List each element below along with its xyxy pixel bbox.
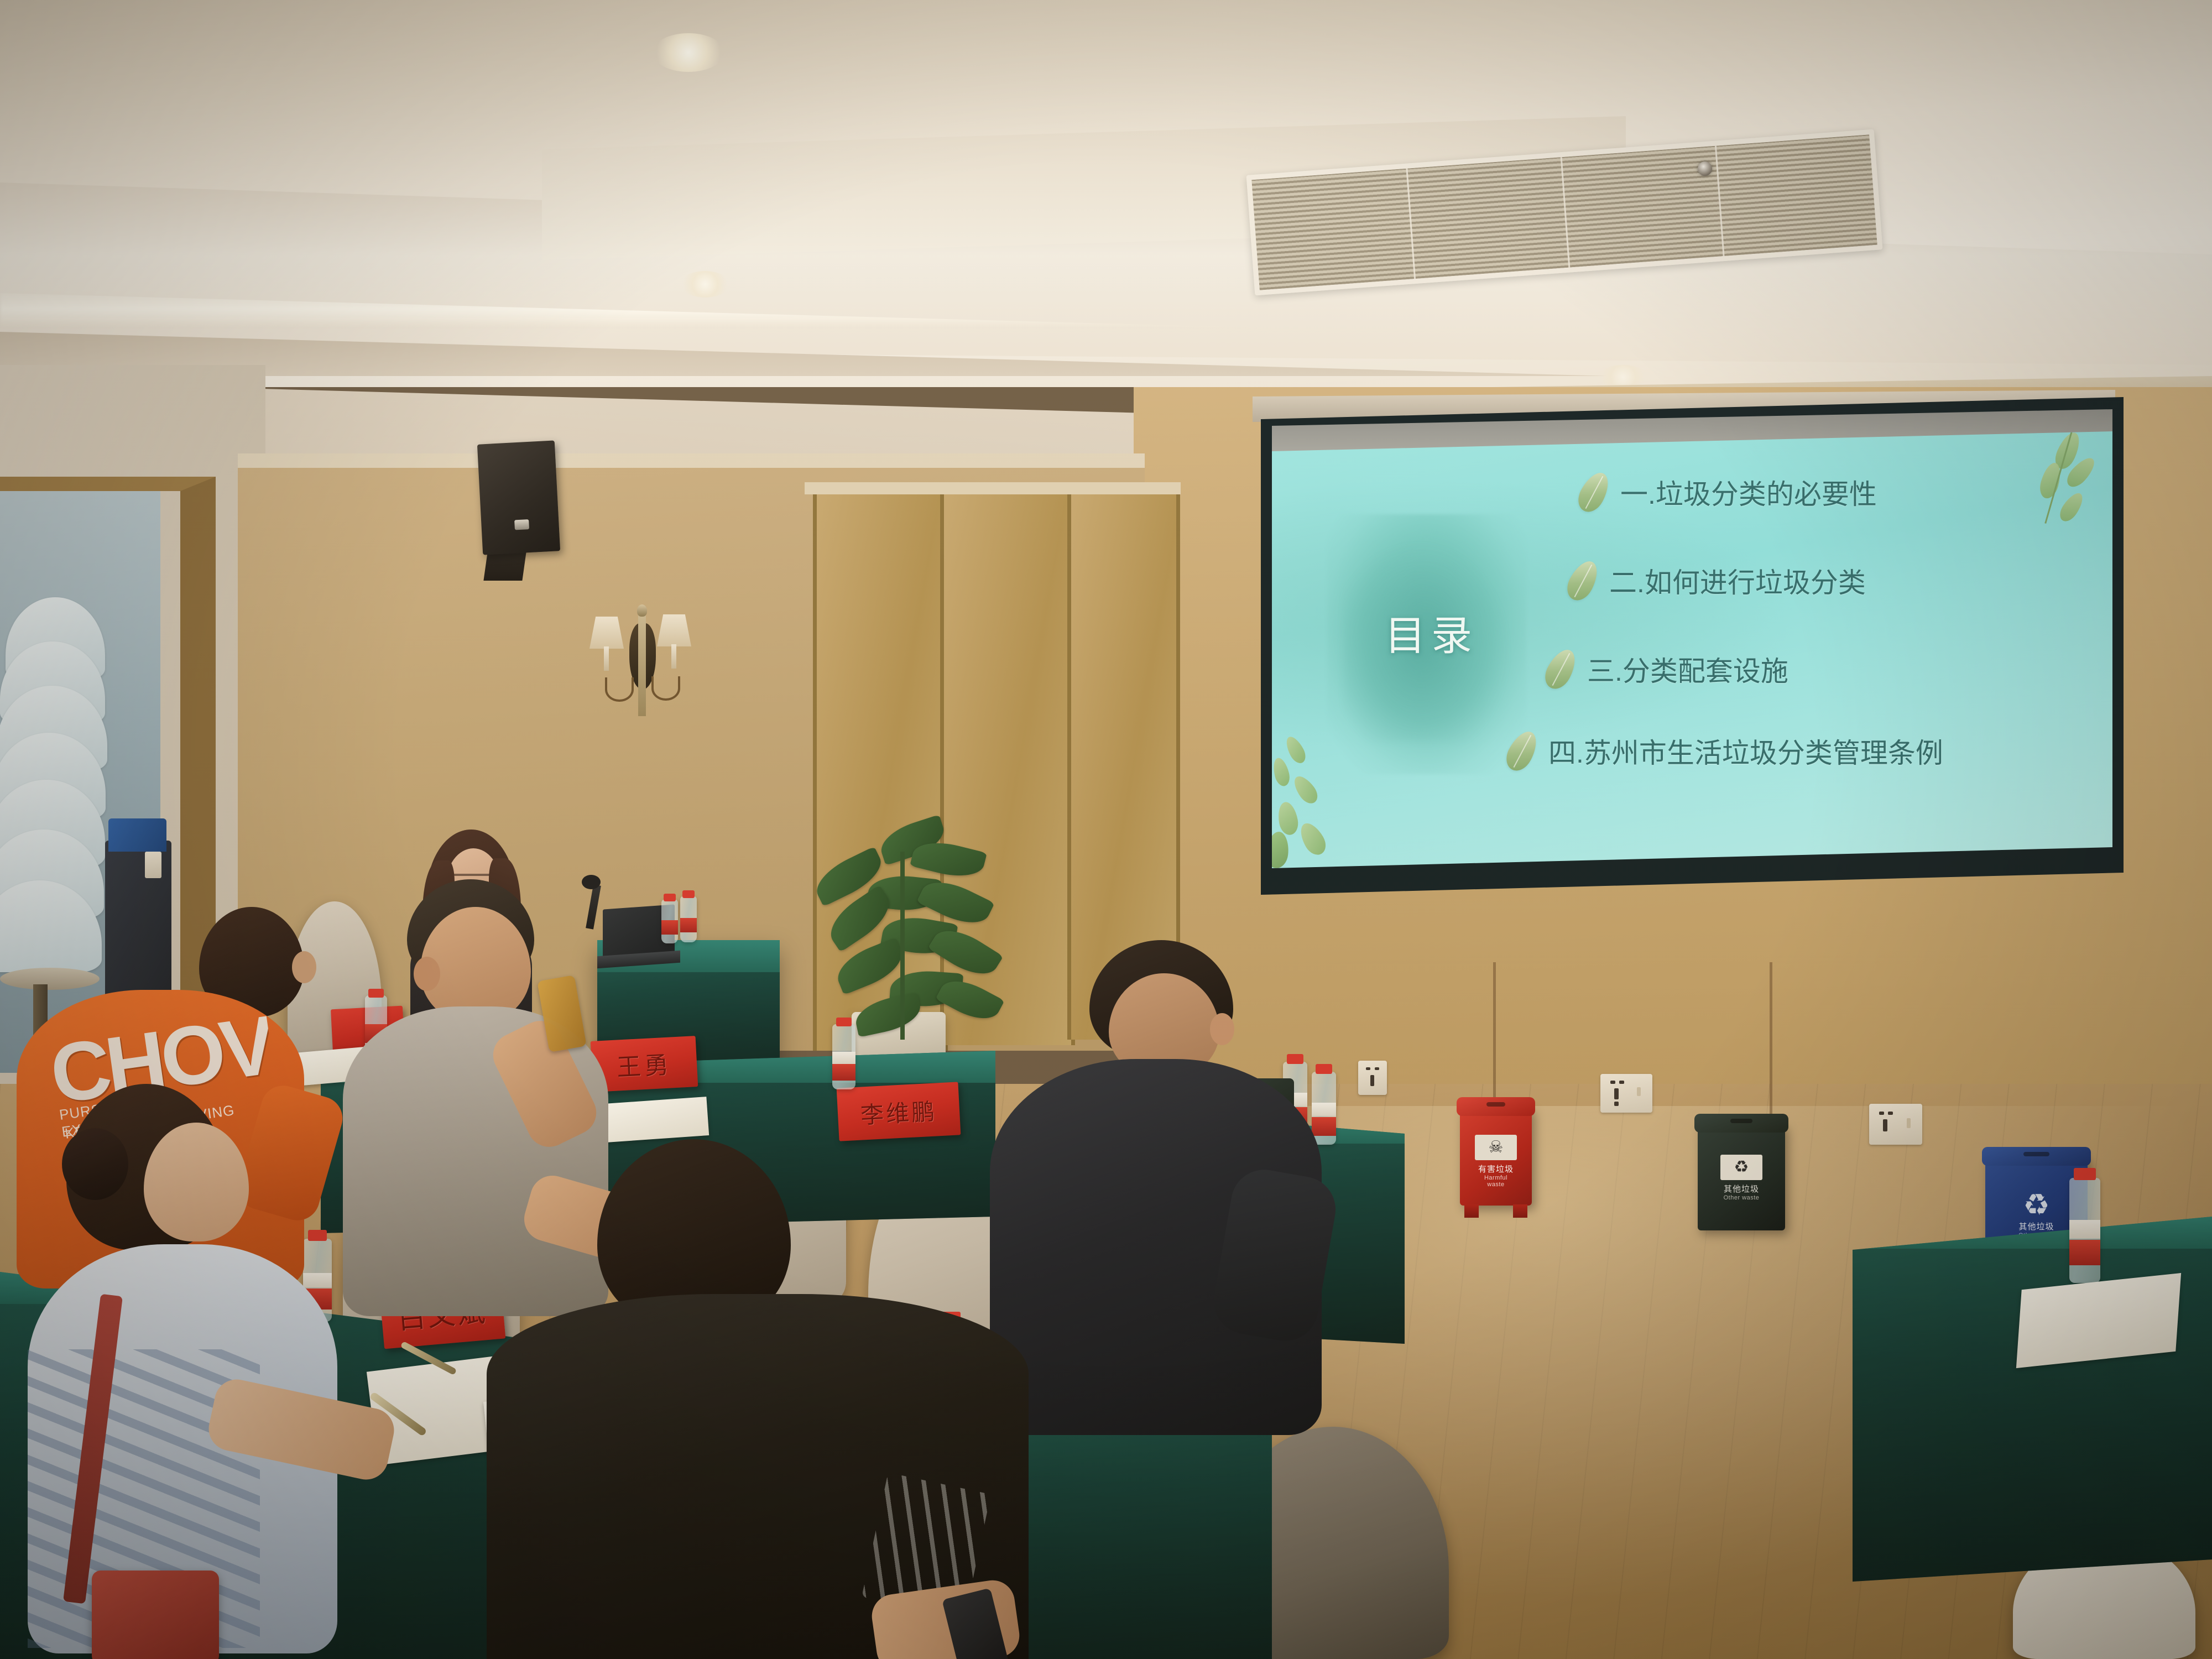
sprinkler-head-icon (1698, 161, 1712, 176)
attendee-black-top-front (487, 1139, 1051, 1659)
bin-lid[interactable] (1982, 1147, 2091, 1166)
hazard-icon: ☠ (1475, 1135, 1517, 1160)
other-waste-icon: ♻ (1720, 1155, 1762, 1180)
sconce-arm (651, 676, 680, 701)
doorway-outlet[interactable] (145, 852, 161, 878)
slide-item-4: 四.苏州市生活垃圾分类管理条例 (1510, 730, 1943, 772)
ceiling-downlight (680, 271, 730, 298)
slide-item-3: 三.分类配套设施 (1548, 648, 1788, 690)
attendee-ear (292, 951, 316, 983)
wall-seam (1493, 962, 1496, 1106)
bin-label-en: Other waste (1720, 1194, 1762, 1201)
water-bottle[interactable] (832, 1024, 855, 1089)
slide-item-text: 一.垃圾分类的必要性 (1620, 472, 1877, 512)
leaf-icon (1573, 468, 1615, 517)
bin-lid[interactable] (1457, 1097, 1535, 1116)
sconce-stem (638, 611, 646, 716)
bin-lid[interactable] (1694, 1114, 1788, 1133)
leaf-icon (1540, 645, 1582, 693)
attendee-hair-bun (62, 1128, 128, 1200)
wall-outlet[interactable] (1358, 1061, 1387, 1095)
table-row-5 (1853, 1217, 2212, 1582)
sconce-candle-icon (671, 644, 676, 669)
bin-label-cn: 其他垃圾 (2006, 1220, 2067, 1232)
bin-label-cn: 其他垃圾 (1720, 1183, 1762, 1194)
sconce-shade-icon (657, 614, 691, 646)
wall-speaker (477, 440, 560, 555)
attendee-ear (1210, 1013, 1234, 1045)
ceiling-downlight (653, 33, 724, 72)
foliage-decoration-bottom-left (1272, 713, 1410, 868)
photo-scene: 目录 一.垃圾分类的必要性 二.如何进行垃圾分类 三.分类配套设施 四.苏州市生… (0, 0, 2212, 1659)
wall-outlet[interactable] (1600, 1074, 1652, 1113)
bin-label-en: Harmful waste (1475, 1175, 1517, 1188)
slide-item-text: 二.如何进行垃圾分类 (1609, 561, 1866, 601)
recycle-triangle-icon: ♻ (2006, 1192, 2067, 1218)
sconce-candle-icon (604, 646, 609, 671)
slide-item-text: 三.分类配套设施 (1587, 649, 1788, 689)
sconce-shade-icon (589, 617, 624, 649)
sconce-arm (605, 677, 634, 702)
bin-label-harmful: ☠ 有害垃圾 Harmful waste (1475, 1135, 1517, 1188)
potted-plant (802, 818, 1001, 1040)
attendee-ear (414, 957, 440, 991)
slide-title: 目录 (1354, 603, 1509, 662)
back-wall-trim (238, 453, 1145, 468)
handbag[interactable] (92, 1571, 219, 1659)
wall-seam (1770, 962, 1772, 1123)
slide-item-2: 二.如何进行垃圾分类 (1571, 560, 1866, 602)
placard-name: 李维鹏 (859, 1093, 937, 1130)
door-trim (805, 482, 1181, 494)
attendee-head (144, 1123, 249, 1241)
sconce-finial (637, 604, 647, 617)
projector-screen-surface: 目录 一.垃圾分类的必要性 二.如何进行垃圾分类 三.分类配套设施 四.苏州市生… (1272, 431, 2112, 868)
speaker-badge (514, 519, 529, 530)
bin-label-cn: 有害垃圾 (1475, 1163, 1517, 1175)
slide-item-1: 一.垃圾分类的必要性 (1582, 471, 1877, 513)
waste-bin-other[interactable]: ♻ 其他垃圾 Other waste (1698, 1123, 1785, 1230)
plant-stem (900, 852, 905, 1040)
wall-outlet[interactable] (1869, 1104, 1922, 1145)
water-bottle[interactable] (2069, 1178, 2100, 1283)
foliage-decoration-top-right (1975, 431, 2103, 553)
water-bottle[interactable] (661, 899, 678, 943)
attendee-woman-striped (28, 1084, 415, 1659)
waste-bin-harmful[interactable]: ☠ 有害垃圾 Harmful waste (1460, 1106, 1532, 1206)
wall-sconce (586, 600, 697, 727)
leaf-icon (1562, 556, 1604, 605)
name-placard-li-weipeng: 李维鹏 (837, 1082, 961, 1141)
bin-label-other: ♻ 其他垃圾 Other waste (1720, 1155, 1762, 1201)
slide-item-text: 四.苏州市生活垃圾分类管理条例 (1548, 731, 1943, 771)
water-bottle[interactable] (680, 896, 697, 942)
